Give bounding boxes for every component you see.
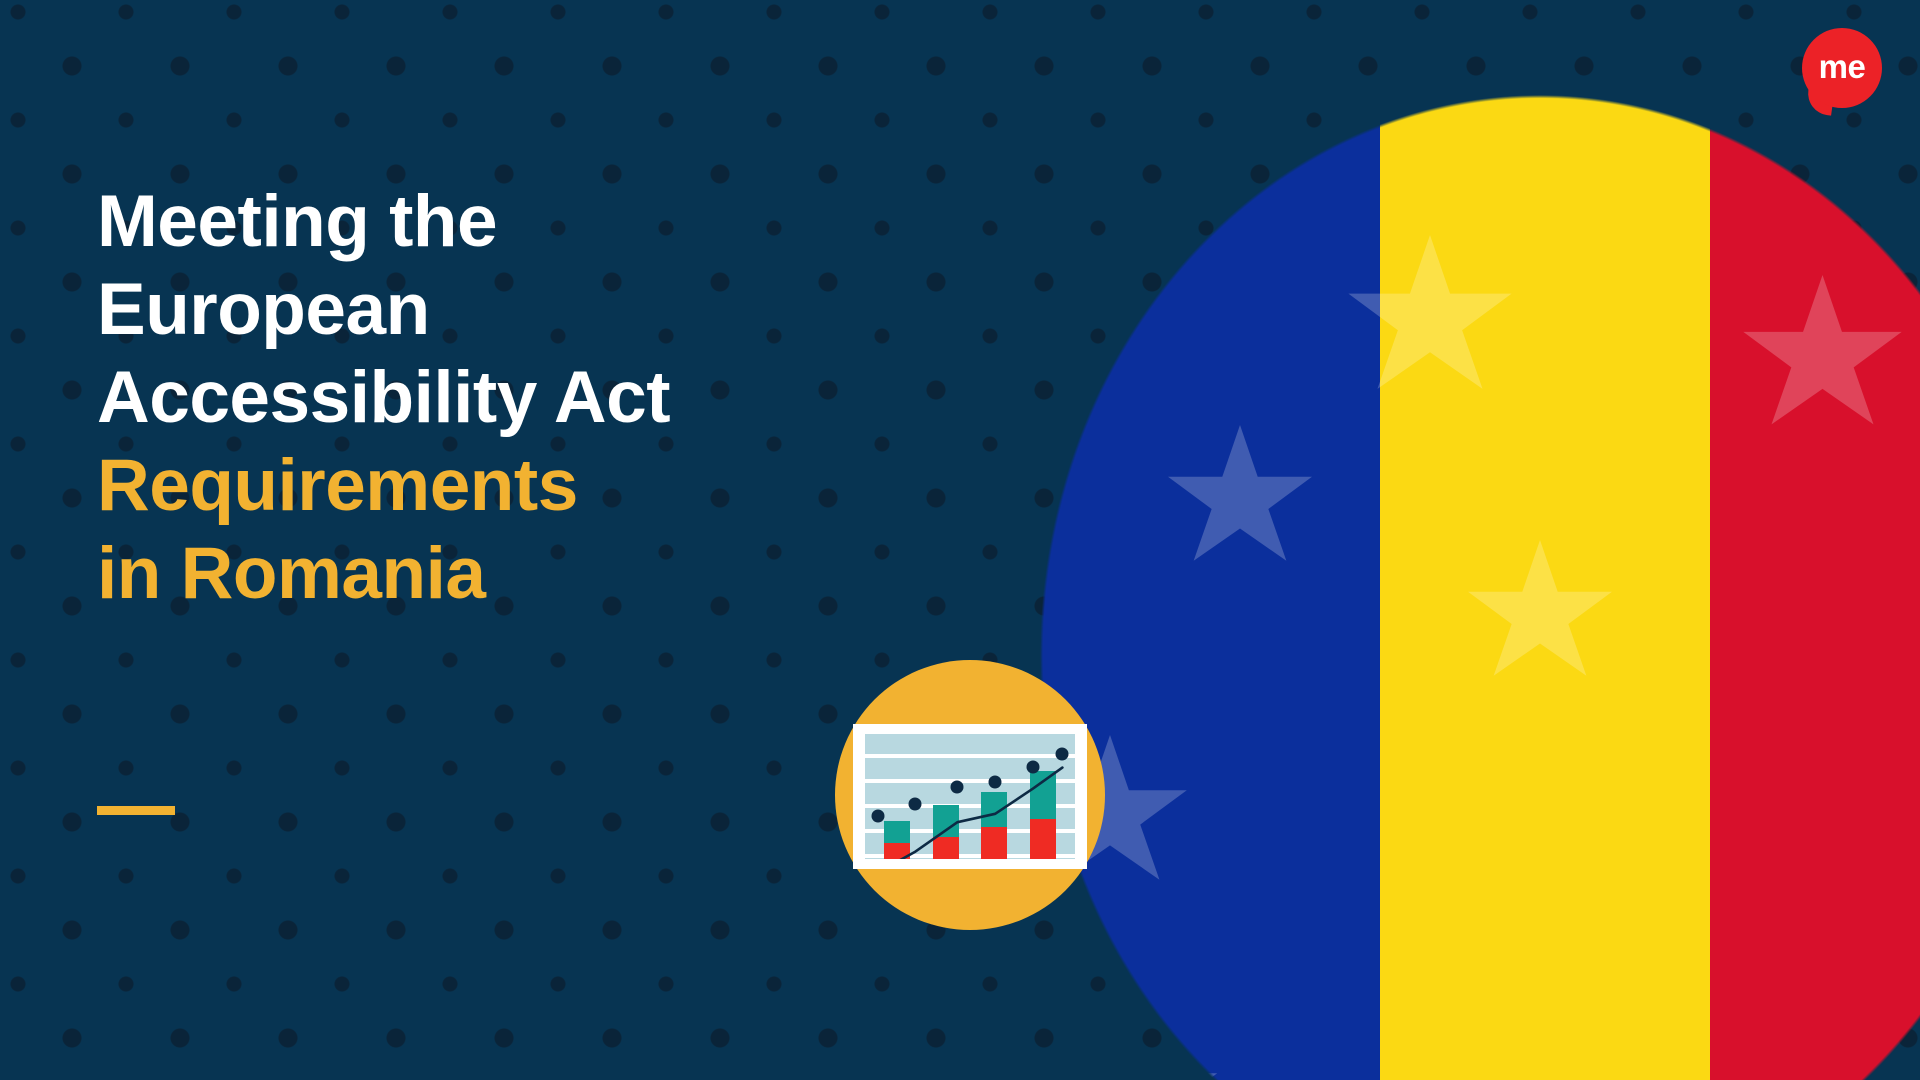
chart-card <box>853 724 1087 869</box>
page-title: Meeting the European Accessibility Act R… <box>97 178 877 618</box>
title-line-4: Requirements <box>97 442 877 530</box>
me-logo[interactable]: me <box>1802 28 1882 108</box>
title-line-1: Meeting the <box>97 178 877 266</box>
flag-band-blue <box>1040 95 1380 1080</box>
title-line-2: European <box>97 266 877 354</box>
flag-band-red <box>1710 95 1920 1080</box>
chart-trend-points <box>865 734 1075 859</box>
title-line-5: in Romania <box>97 530 877 618</box>
me-logo-label: me <box>1802 28 1882 108</box>
title-accent-rule <box>97 806 175 815</box>
flag-band-yellow <box>1380 95 1710 1080</box>
growth-chart-badge <box>835 660 1105 930</box>
romania-flag-disc <box>1040 95 1920 1080</box>
title-line-3: Accessibility Act <box>97 354 877 442</box>
banner-canvas: Meeting the European Accessibility Act R… <box>0 0 1920 1080</box>
chart-plot-area <box>865 734 1075 859</box>
